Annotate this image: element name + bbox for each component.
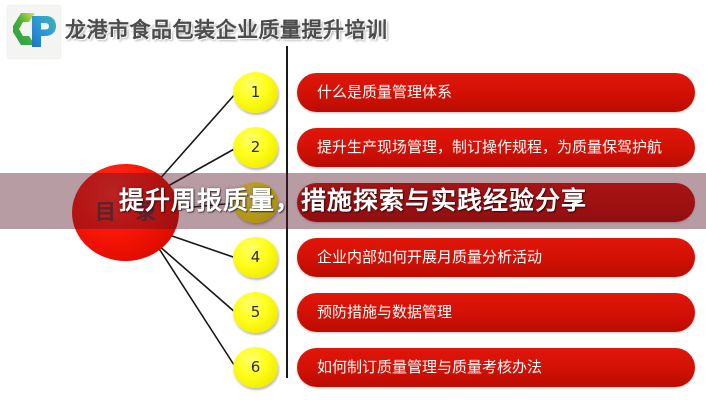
slide-canvas: 龙港市食品包装企业质量提升培训 龙港市食品包装企业质量提升培训 目 录 1 什么…	[0, 0, 706, 400]
agenda-row[interactable]: 5 预防措施与数据管理	[0, 292, 706, 336]
agenda-row[interactable]: 4 企业内部如何开展月质量分析活动	[0, 237, 706, 281]
agenda-item-text: 预防措施与数据管理	[317, 293, 683, 332]
agenda-pill[interactable]: 预防措施与数据管理	[297, 293, 695, 332]
agenda-number-label: 2	[233, 127, 278, 168]
agenda-pill[interactable]: 如何制订质量管理与质量考核办法	[297, 348, 695, 387]
agenda-number-bubble[interactable]: 2	[233, 127, 278, 168]
agenda-number-bubble[interactable]: 5	[233, 292, 278, 333]
agenda-item-text: 提升生产现场管理，制订操作规程，为质量保驾护航	[317, 128, 683, 167]
agenda-number-label: 6	[233, 347, 278, 388]
agenda-row[interactable]: 6 如何制订质量管理与质量考核办法	[0, 347, 706, 391]
agenda-item-text: 企业内部如何开展月质量分析活动	[317, 238, 683, 277]
agenda-row[interactable]: 1 什么是质量管理体系	[0, 72, 706, 116]
agenda-item-text: 什么是质量管理体系	[317, 73, 683, 112]
agenda-item-text: 如何制订质量管理与质量考核办法	[317, 348, 683, 387]
agenda-number-label: 4	[233, 237, 278, 278]
caption-overlay-text: 提升周报质量，措施探索与实践经验分享	[0, 173, 706, 229]
agenda-number-bubble[interactable]: 6	[233, 347, 278, 388]
agenda-number-bubble[interactable]: 4	[233, 237, 278, 278]
agenda-number-label: 5	[233, 292, 278, 333]
agenda-row[interactable]: 2 提升生产现场管理，制订操作规程，为质量保驾护航	[0, 127, 706, 171]
agenda-pill[interactable]: 企业内部如何开展月质量分析活动	[297, 238, 695, 277]
agenda-pill[interactable]: 提升生产现场管理，制订操作规程，为质量保驾护航	[297, 128, 695, 167]
agenda-number-label: 1	[233, 72, 278, 113]
agenda-pill[interactable]: 什么是质量管理体系	[297, 73, 695, 112]
agenda-number-bubble[interactable]: 1	[233, 72, 278, 113]
